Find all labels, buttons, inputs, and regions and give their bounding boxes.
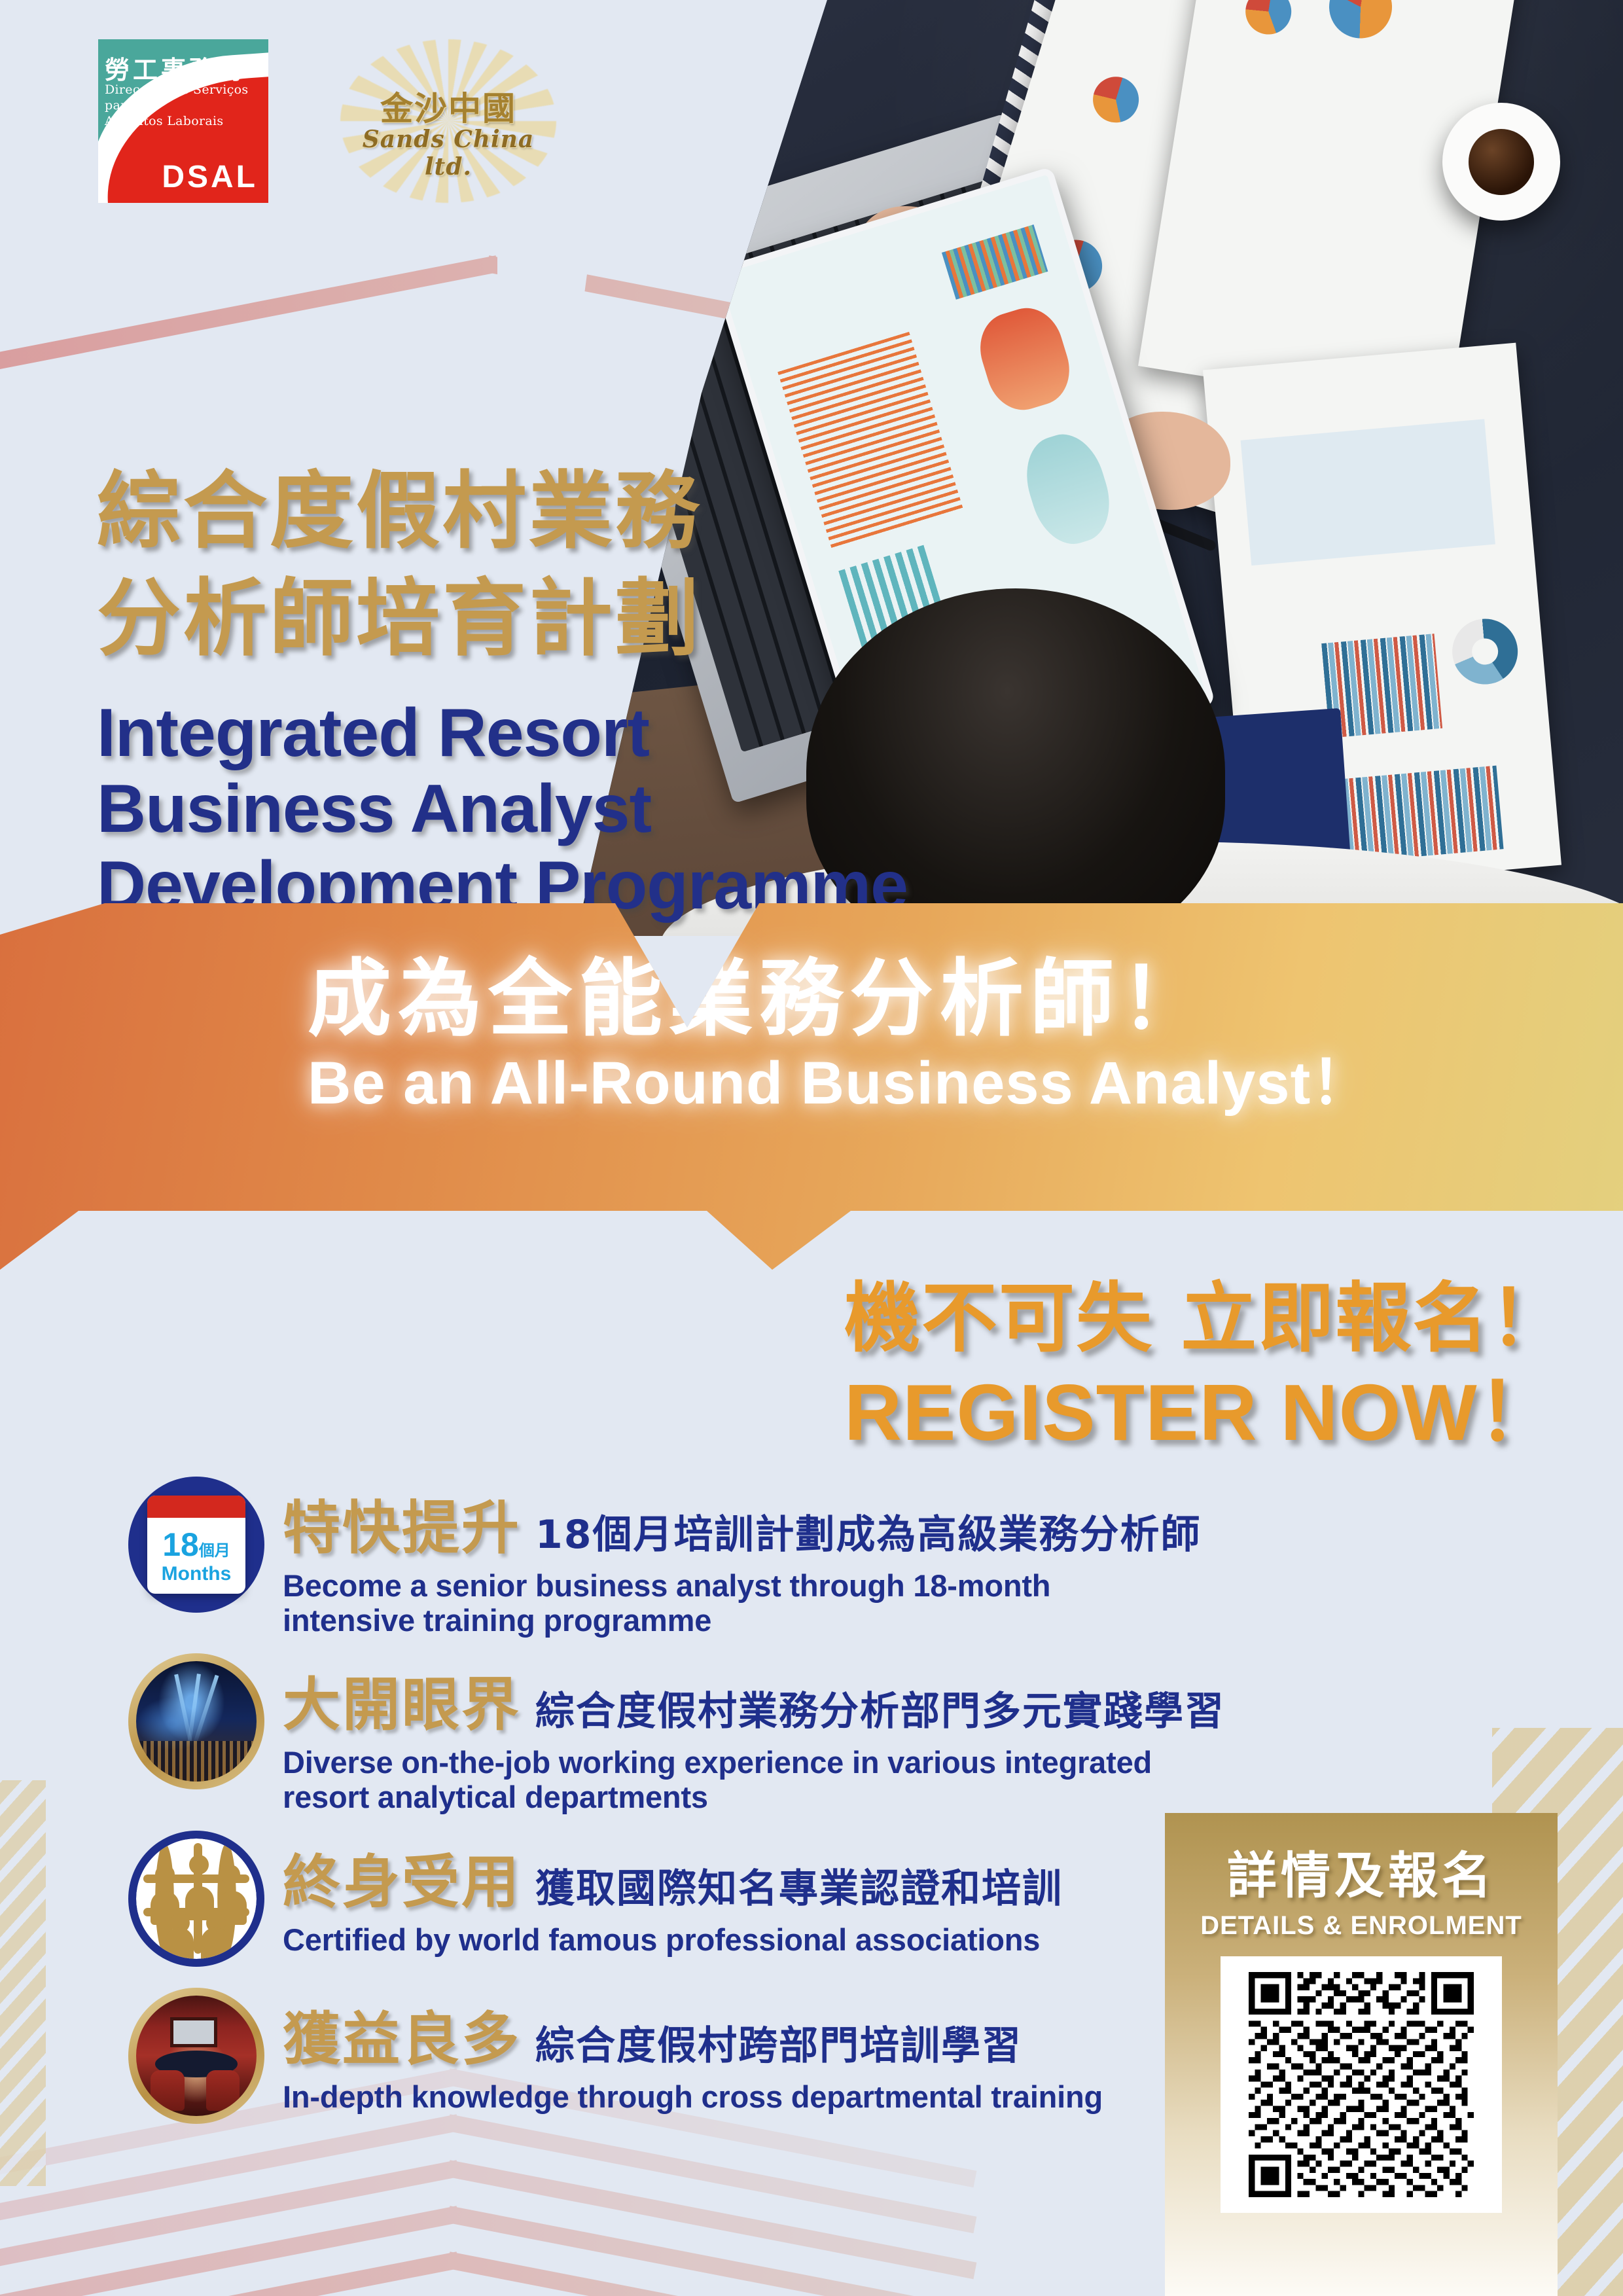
register-call-to-action: 機不可失 立即報名！ REGISTER NOW！ xyxy=(844,1276,1597,1454)
shape-graphic xyxy=(971,300,1079,418)
restaurant-photo xyxy=(136,1996,257,2116)
calendar-number: 18 xyxy=(162,1526,199,1563)
gold-ring xyxy=(128,1988,264,2124)
feature-subheading-cn: 18個月培訓計劃成為高級業務分析師 xyxy=(535,1503,1202,1560)
sands-china-logo: 金沙中國 Sands China ltd. xyxy=(340,39,556,203)
concert-photo xyxy=(136,1661,257,1782)
pie-chart-icon xyxy=(1087,71,1144,128)
dsal-portuguese-line1: Direcção dos Serviços para os xyxy=(105,82,264,114)
person-dot xyxy=(221,1865,240,1884)
calendar-sheet: 18個月 Months xyxy=(147,1496,245,1594)
feature-row: 18個月 Months 特快提升18個月培訓計劃成為高級業務分析師 Become… xyxy=(128,1473,1162,1638)
feature-row: 獲益良多綜合度假村跨部門培訓學習 In-depth knowledge thro… xyxy=(128,1984,1162,2129)
tagline-banner: 成為全能業務分析師！ Be an All-Round Business Anal… xyxy=(0,903,1623,1270)
enrolment-heading-en: DETAILS & ENROLMENT xyxy=(1165,1911,1558,1941)
feature-description-en: In-depth knowledge through cross departm… xyxy=(283,2080,1162,2115)
title-cn-line2: 分析師培育計劃 xyxy=(97,565,948,673)
feature-heading-line: 大開眼界綜合度假村業務分析部門多元實踐學習 xyxy=(283,1659,1162,1742)
concert-stage-icon xyxy=(128,1653,264,1789)
icon-inner xyxy=(136,1996,257,2116)
feature-description-en: Diverse on-the-job working experience in… xyxy=(283,1746,1162,1814)
chart-legend-icon xyxy=(942,224,1048,300)
feature-heading-cn: 終身受用 xyxy=(283,1836,521,1919)
calendar-number-row: 18個月 xyxy=(162,1528,230,1561)
feature-heading-line: 特快提升18個月培訓計劃成為高級業務分析師 xyxy=(283,1482,1162,1565)
globe-people-certification-icon xyxy=(128,1831,264,1967)
calendar-ring: 18個月 Months xyxy=(128,1477,264,1613)
feature-description-en: Become a senior business analyst through… xyxy=(283,1569,1162,1638)
area-chart-icon xyxy=(1241,420,1496,566)
dsal-logo: 勞工事務局 Direcção dos Serviços para os Assu… xyxy=(98,39,268,203)
shape-graphic xyxy=(1016,425,1120,552)
title-en-line2: Business Analyst xyxy=(97,771,948,847)
title-english: Integrated Resort Business Analyst Devel… xyxy=(97,695,948,924)
coffee-cup xyxy=(1442,103,1560,221)
donut-chart-icon xyxy=(1450,617,1520,687)
pie-chart-icon xyxy=(1242,0,1294,38)
title-chinese: 綜合度假村業務 分析師培育計劃 xyxy=(97,458,948,673)
feature-description-en: Certified by world famous professional a… xyxy=(283,1923,1162,1958)
feature-heading-line: 終身受用獲取國際知名專業認證和培訓 xyxy=(283,1836,1162,1919)
feature-text: 特快提升18個月培訓計劃成為高級業務分析師 Become a senior bu… xyxy=(283,1473,1162,1638)
enrolment-qr-code[interactable] xyxy=(1238,1972,1485,2197)
dining-chair xyxy=(151,2070,185,2111)
person-dot xyxy=(189,1855,209,1874)
logo-bar: 勞工事務局 Direcção dos Serviços para os Assu… xyxy=(98,39,556,203)
globe-graphic xyxy=(136,1839,257,1959)
dsal-abbreviation: DSAL xyxy=(162,159,258,195)
sands-english-name: Sands China ltd. xyxy=(340,126,556,181)
enrolment-heading-cn: 詳情及報名 xyxy=(1165,1835,1558,1907)
calendar-header-bar xyxy=(147,1496,245,1518)
calendar-18-months-icon: 18個月 Months xyxy=(128,1477,264,1613)
feature-list: 18個月 Months 特快提升18個月培訓計劃成為高級業務分析師 Become… xyxy=(128,1473,1162,2141)
icon-inner xyxy=(136,1839,257,1959)
feature-text: 大開眼界綜合度假村業務分析部門多元實踐學習 Diverse on-the-job… xyxy=(283,1649,1162,1814)
feature-row: 終身受用獲取國際知名專業認證和培訓 Certified by world fam… xyxy=(128,1827,1162,1972)
poster-root: 勞工事務局 Direcção dos Serviços para os Assu… xyxy=(0,0,1623,2296)
navy-ring xyxy=(128,1831,264,1967)
enrolment-panel: 詳情及報名 DETAILS & ENROLMENT xyxy=(1165,1813,1558,2296)
icon-inner xyxy=(136,1661,257,1782)
restaurant-interior-icon xyxy=(128,1988,264,2124)
tagline-text: 成為全能業務分析師！ Be an All-Round Business Anal… xyxy=(308,954,1551,1117)
pie-chart-icon xyxy=(1325,0,1397,42)
dsal-portuguese-name: Direcção dos Serviços para os Assuntos L… xyxy=(105,82,264,129)
feature-text: 終身受用獲取國際知名專業認證和培訓 Certified by world fam… xyxy=(283,1827,1162,1958)
feature-heading-cn: 獲益良多 xyxy=(283,1993,521,2076)
feature-row: 大開眼界綜合度假村業務分析部門多元實踐學習 Diverse on-the-job… xyxy=(128,1649,1162,1814)
calendar-body: 18個月 Months xyxy=(147,1518,245,1594)
gold-ring xyxy=(128,1653,264,1789)
feature-subheading-cn: 綜合度假村業務分析部門多元實踐學習 xyxy=(535,1679,1225,1736)
person-body xyxy=(201,1928,230,1959)
page-title: 綜合度假村業務 分析師培育計劃 Integrated Resort Busine… xyxy=(97,458,948,924)
feature-heading-cn: 大開眼界 xyxy=(283,1659,521,1742)
tagline-english: Be an All-Round Business Analyst！ xyxy=(308,1050,1551,1117)
dsal-portuguese-line2: Assuntos Laborais xyxy=(105,114,264,130)
tagline-chinese: 成為全能業務分析師！ xyxy=(308,954,1551,1045)
calendar-unit-en: Months xyxy=(162,1564,232,1584)
title-en-line1: Integrated Resort xyxy=(97,695,948,771)
stage-light-beam xyxy=(174,1674,194,1748)
wall-artwork xyxy=(170,2017,218,2048)
left-edge-stripes xyxy=(0,1780,46,2186)
phone-cord xyxy=(643,84,691,280)
feature-subheading-cn: 獲取國際知名專業認證和培訓 xyxy=(535,1857,1063,1914)
qr-code-container[interactable] xyxy=(1221,1956,1502,2213)
dsal-chinese-name: 勞工事務局 xyxy=(105,50,264,86)
calendar-unit-cn: 個月 xyxy=(199,1541,230,1560)
person-body xyxy=(165,1928,194,1959)
feature-text: 獲益良多綜合度假村跨部門培訓學習 In-depth knowledge thro… xyxy=(283,1984,1162,2115)
feature-subheading-cn: 綜合度假村跨部門培訓學習 xyxy=(535,2014,1022,2071)
dining-chair xyxy=(206,2070,240,2111)
register-english: REGISTER NOW！ xyxy=(844,1371,1597,1454)
feature-heading-cn: 特快提升 xyxy=(283,1482,521,1565)
title-cn-line1: 綜合度假村業務 xyxy=(97,458,948,565)
feature-heading-line: 獲益良多綜合度假村跨部門培訓學習 xyxy=(283,1993,1162,2076)
register-chinese: 機不可失 立即報名！ xyxy=(844,1276,1597,1361)
sands-chinese-name: 金沙中國 xyxy=(340,82,556,130)
